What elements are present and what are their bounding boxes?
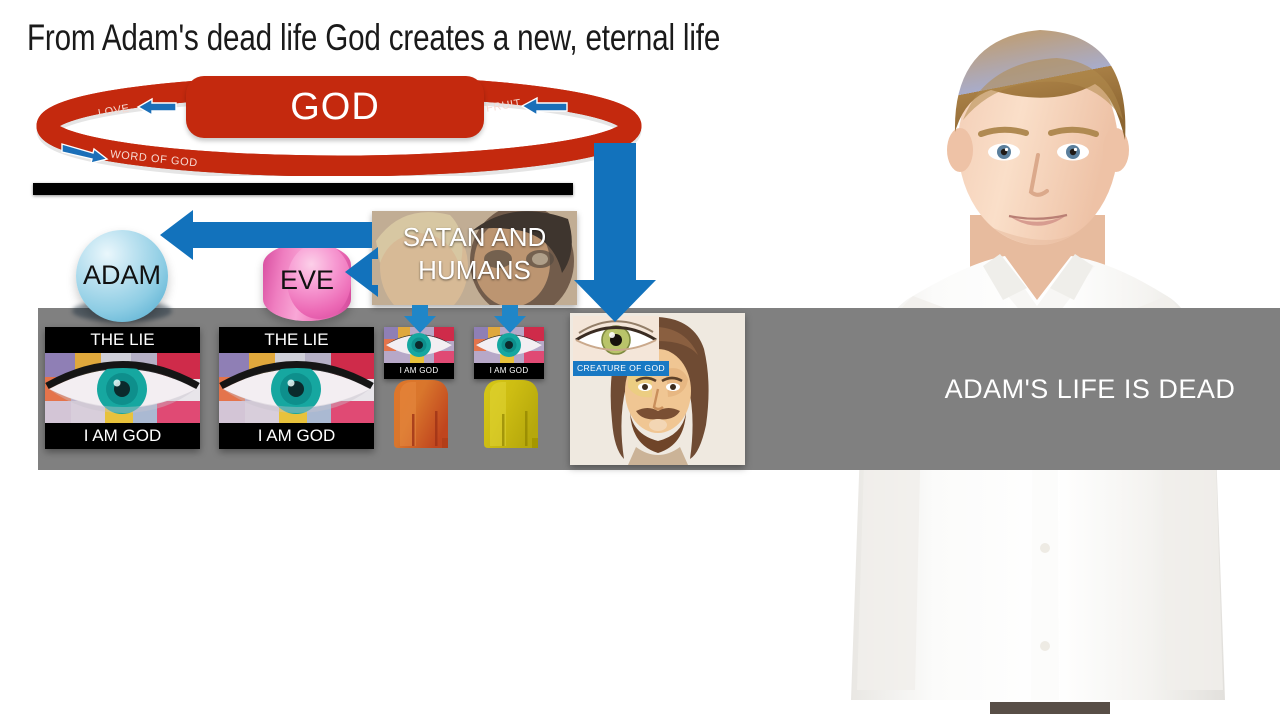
satan-caption-line1: SATAN AND	[403, 222, 547, 252]
creature-of-god-tag: CREATURE OF GOD	[573, 361, 669, 376]
adam-sphere: ADAM	[76, 230, 168, 322]
lie-card-adam: THE LIE	[45, 327, 200, 449]
body-figure-orange	[386, 378, 456, 450]
green-eye-image	[573, 316, 659, 361]
slide-canvas: From Adam's dead life God creates a new,…	[0, 0, 1280, 720]
lie-card-eve: THE LIE	[219, 327, 374, 449]
small-card-1-label: I AM GOD	[384, 363, 454, 379]
small-card-2-eye-image	[474, 327, 544, 363]
eve-label: EVE	[263, 265, 351, 296]
lie-card-eve-top: THE LIE	[219, 327, 374, 353]
god-label: GOD	[186, 76, 484, 138]
adam-label: ADAM	[76, 260, 168, 291]
god-box: GOD	[186, 76, 484, 138]
adams-life-is-dead-text: ADAM'S LIFE IS DEAD	[940, 374, 1240, 405]
lie-card-eve-bottom: I AM GOD	[219, 423, 374, 449]
small-card-2: I AM GOD	[474, 327, 544, 379]
creature-of-god-card: CREATURE OF GOD	[570, 313, 745, 465]
small-card-1: I AM GOD	[384, 327, 454, 379]
body-figure-yellow	[476, 378, 546, 450]
lie-card-adam-top: THE LIE	[45, 327, 200, 353]
lie-card-adam-bottom: I AM GOD	[45, 423, 200, 449]
lie-card-adam-eye-image	[45, 353, 200, 423]
eve-shape: EVE	[263, 243, 351, 321]
small-card-2-label: I AM GOD	[474, 363, 544, 379]
satan-caption-line2: HUMANS	[418, 255, 531, 285]
small-card-1-eye-image	[384, 327, 454, 363]
slide-title: From Adam's dead life God creates a new,…	[27, 16, 720, 60]
satan-caption: SATAN AND HUMANS	[372, 221, 577, 287]
black-bar-divider	[33, 183, 573, 195]
satan-and-humans-card: SATAN AND HUMANS	[372, 211, 577, 305]
lie-card-eve-eye-image	[219, 353, 374, 423]
